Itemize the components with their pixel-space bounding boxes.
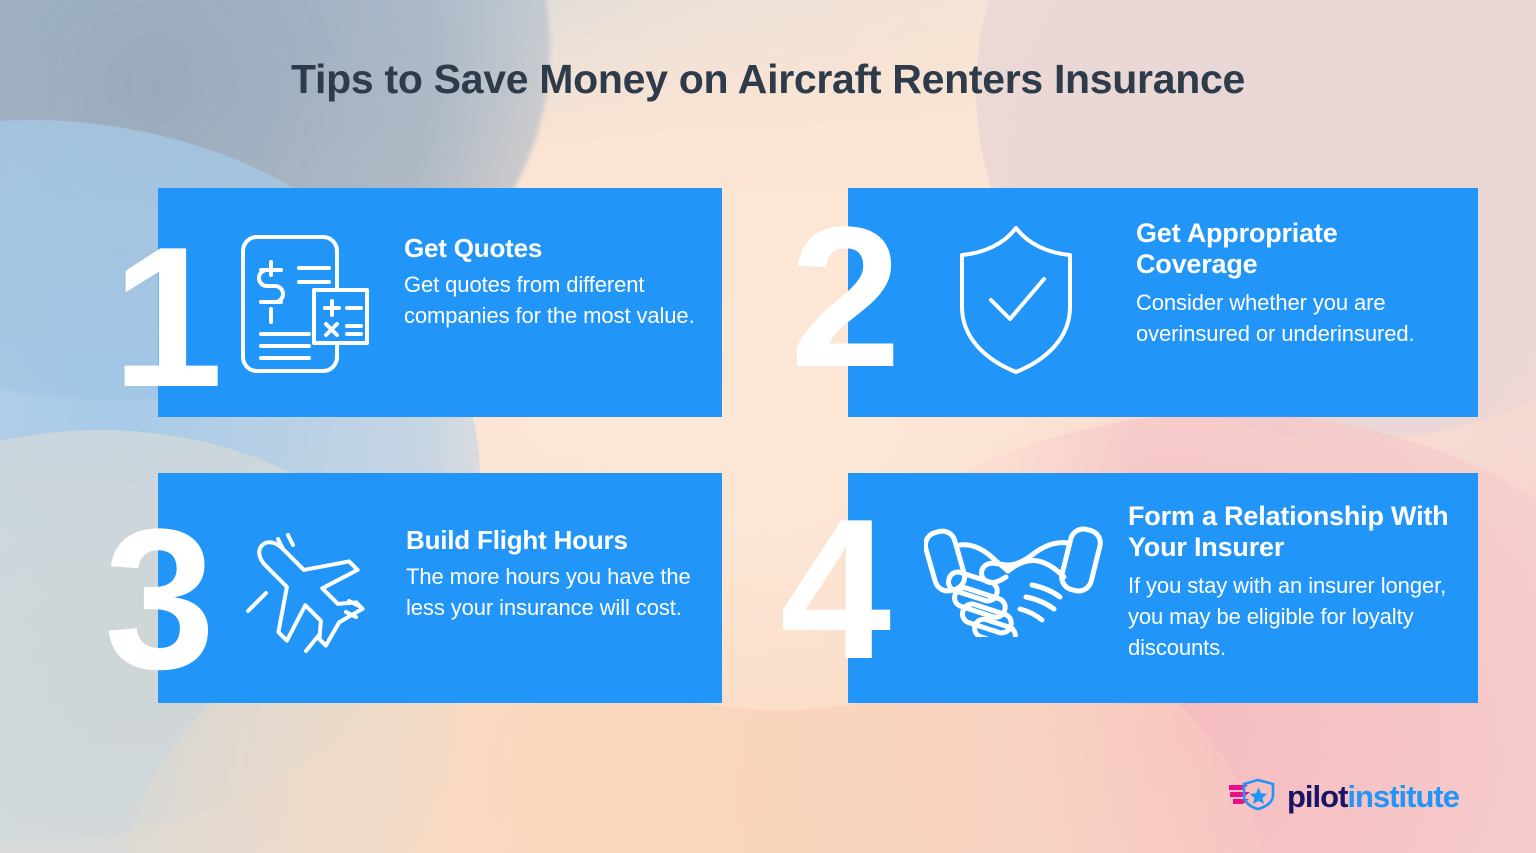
tip-card-1: Get Quotes Get quotes from different com… xyxy=(158,188,722,417)
tip-card-2-body: Consider whether you are overinsured or … xyxy=(1136,287,1426,349)
tip-card-2: Get Appropriate Coverage Consider whethe… xyxy=(848,188,1478,417)
tip-card-1-text: Get Quotes Get quotes from different com… xyxy=(404,233,704,332)
shield-check-icon xyxy=(956,224,1076,381)
tip-card-1-title: Get Quotes xyxy=(404,233,704,263)
tip-card-3-title: Build Flight Hours xyxy=(406,525,706,555)
tip-card-3-body: The more hours you have the less your in… xyxy=(406,561,706,623)
tip-card-3-text: Build Flight Hours The more hours you ha… xyxy=(406,525,706,624)
handshake-icon xyxy=(924,517,1104,642)
logo-wordmark: pilotinstitute xyxy=(1287,781,1459,812)
calculator-invoice-icon xyxy=(240,234,370,379)
tip-card-2-title: Get Appropriate Coverage xyxy=(1136,218,1426,281)
tip-card-4-title: Form a Relationship With Your Insurer xyxy=(1128,501,1468,564)
tip-card-4-text: Form a Relationship With Your Insurer If… xyxy=(1128,501,1468,663)
tip-card-4: Form a Relationship With Your Insurer If… xyxy=(848,473,1478,703)
tip-card-4-body: If you stay with an insurer longer, you … xyxy=(1128,570,1468,664)
tip-card-2-text: Get Appropriate Coverage Consider whethe… xyxy=(1136,218,1426,349)
logo-word-pilot: pilot xyxy=(1287,779,1347,814)
page-title: Tips to Save Money on Aircraft Renters I… xyxy=(0,56,1536,103)
tip-card-3: Build Flight Hours The more hours you ha… xyxy=(158,473,722,703)
tip-card-1-body: Get quotes from different companies for … xyxy=(404,269,704,331)
logo-word-institute: institute xyxy=(1347,779,1459,814)
airplane-icon xyxy=(236,519,376,664)
pilot-institute-winged-shield-star-icon xyxy=(1228,776,1278,817)
pilot-institute-logo[interactable]: pilotinstitute xyxy=(1228,776,1459,817)
